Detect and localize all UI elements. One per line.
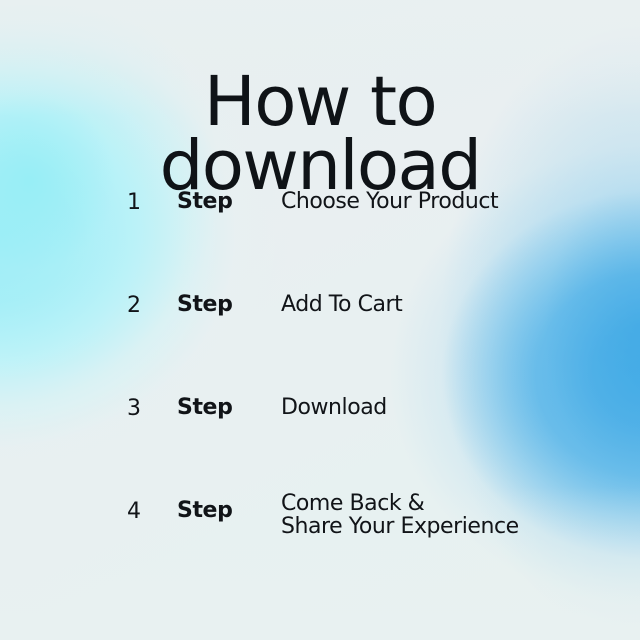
step-description-line-1: Add To Cart: [281, 293, 620, 316]
step-description: Download: [281, 396, 620, 419]
step-number: 2: [127, 295, 153, 317]
step-description: Add To Cart: [281, 293, 620, 316]
step-description: Choose Your Product: [281, 190, 620, 213]
steps-list: 1 Step Choose Your Product 2 Step Add To…: [0, 178, 640, 590]
list-item: 3 Step Download: [0, 384, 640, 487]
step-description-line-2: Share Your Experience: [281, 515, 620, 538]
list-item: 4 Step Come Back & Share Your Experience: [0, 487, 640, 590]
step-number: 3: [127, 398, 153, 420]
step-number: 4: [127, 501, 153, 523]
poster-content: How to download 1 Step Choose Your Produ…: [0, 0, 640, 640]
step-description-line-1: Choose Your Product: [281, 190, 620, 213]
step-description-line-1: Come Back &: [281, 492, 620, 515]
step-description-line-1: Download: [281, 396, 620, 419]
list-item: 1 Step Choose Your Product: [0, 178, 640, 281]
step-label: Step: [177, 191, 232, 213]
list-item: 2 Step Add To Cart: [0, 281, 640, 384]
step-number: 1: [127, 192, 153, 214]
step-label: Step: [177, 500, 232, 522]
poster-canvas: How to download 1 Step Choose Your Produ…: [0, 0, 640, 640]
step-label: Step: [177, 294, 232, 316]
step-label: Step: [177, 397, 232, 419]
page-title-line-1: How to: [0, 70, 640, 134]
step-description: Come Back & Share Your Experience: [281, 492, 620, 539]
